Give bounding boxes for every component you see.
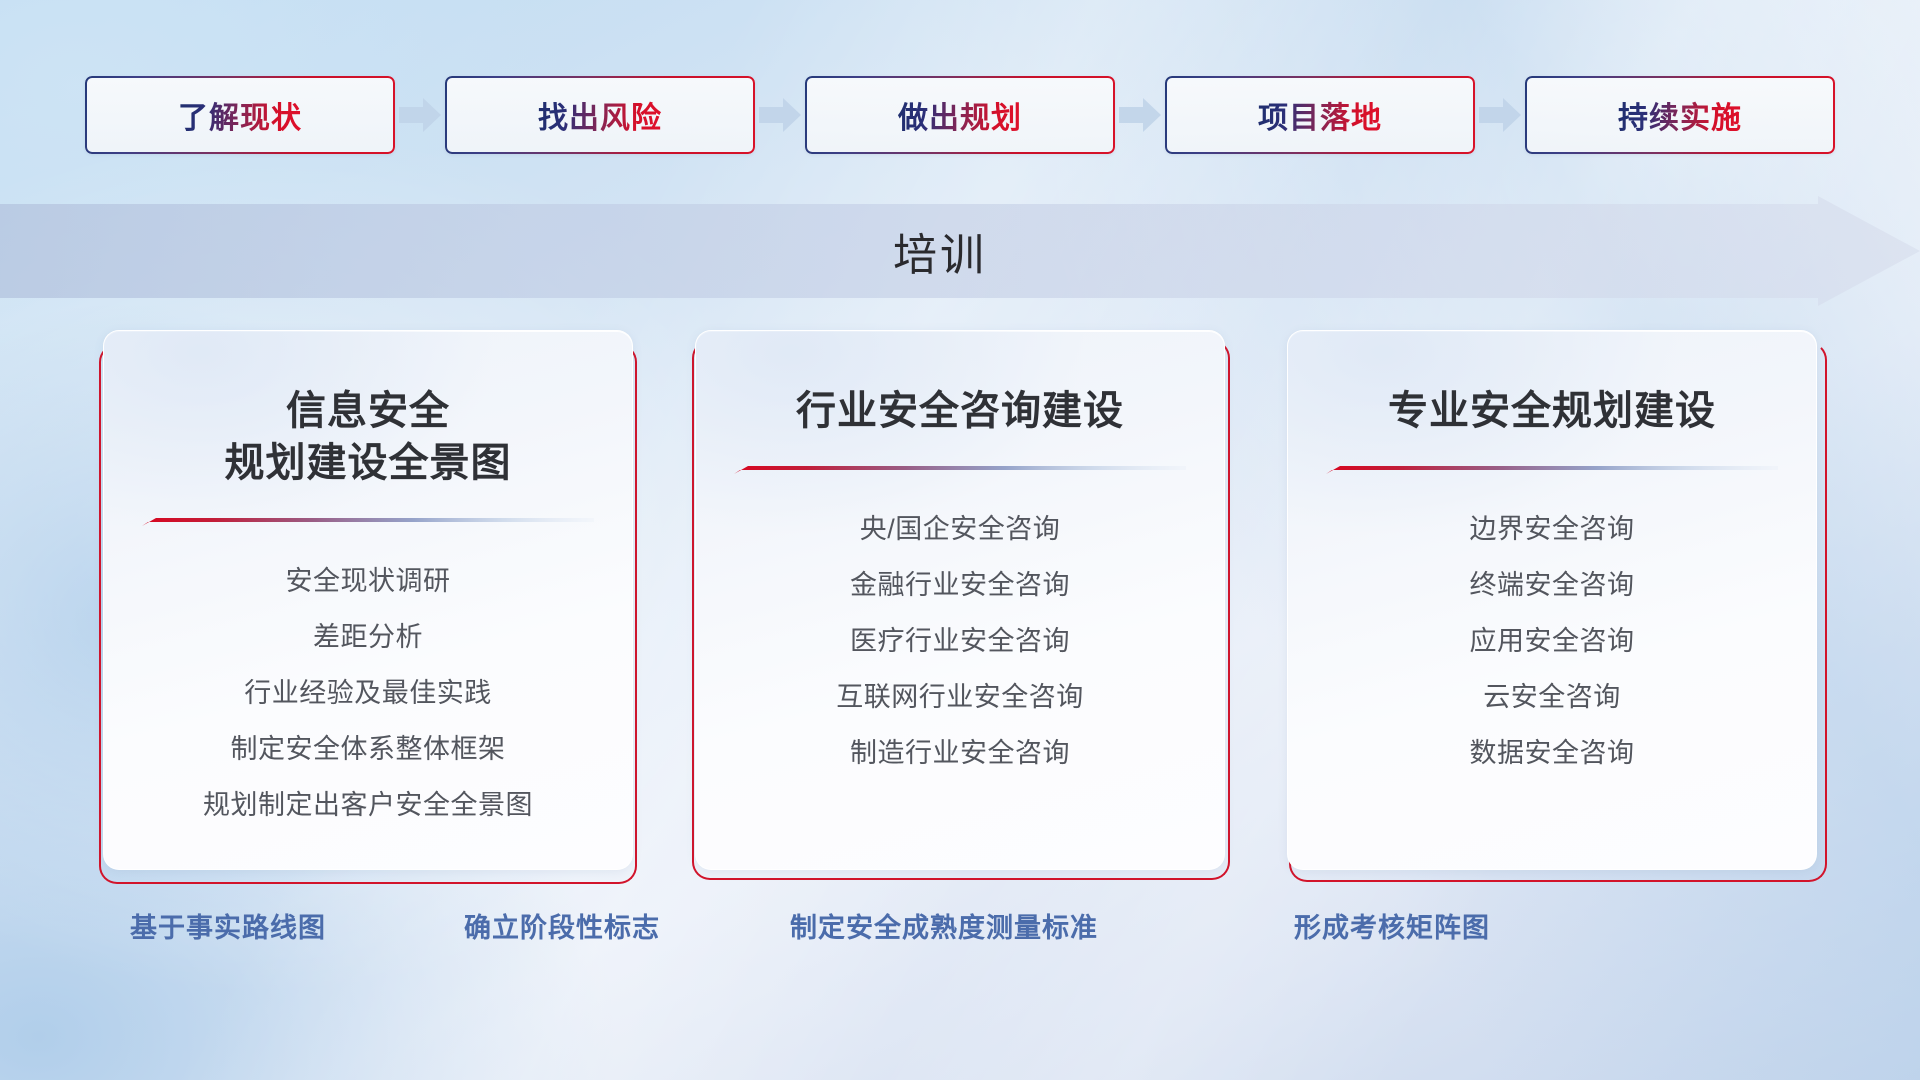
list-item: 制造行业安全咨询 xyxy=(850,731,1070,770)
step-box-4[interactable]: 持续实施 xyxy=(1525,76,1835,154)
card-list: 央/国企安全咨询 金融行业安全咨询 医疗行业安全咨询 互联网行业安全咨询 制造行… xyxy=(722,507,1198,770)
list-item: 安全现状调研 xyxy=(286,559,451,598)
step-label: 项目落地 xyxy=(1258,93,1382,137)
caption-row: 基于事实路线图 确立阶段性标志 制定安全成熟度测量标准 形成考核矩阵图 xyxy=(0,906,1920,962)
caption-1: 确立阶段性标志 xyxy=(464,906,660,945)
card-0[interactable]: 信息安全 规划建设全景图 xyxy=(103,330,633,870)
card-2[interactable]: 专业安全规划建设 xyxy=(1287,330,1817,870)
list-item: 应用安全咨询 xyxy=(1470,619,1635,658)
list-item: 央/国企安全咨询 xyxy=(860,507,1061,546)
card-title: 行业安全咨询建设 xyxy=(796,385,1124,437)
step-box-1[interactable]: 找出风险 xyxy=(445,76,755,154)
list-item: 云安全咨询 xyxy=(1483,675,1621,714)
arrow-right-icon xyxy=(755,92,805,138)
step-label: 做出规划 xyxy=(898,93,1022,137)
card-slot-2: 专业安全规划建设 xyxy=(1287,330,1817,870)
card-divider xyxy=(734,463,1186,477)
caption-2: 制定安全成熟度测量标准 xyxy=(790,906,1098,945)
step-label: 找出风险 xyxy=(538,93,662,137)
list-item: 互联网行业安全咨询 xyxy=(836,675,1084,714)
arrow-right-icon xyxy=(1475,92,1525,138)
card-1[interactable]: 行业安全咨询建设 xyxy=(695,330,1225,870)
step-box-2[interactable]: 做出规划 xyxy=(805,76,1115,154)
arrow-right-icon xyxy=(1115,92,1165,138)
list-item: 终端安全咨询 xyxy=(1470,563,1635,602)
list-item: 制定安全体系整体框架 xyxy=(231,727,506,766)
list-item: 规划制定出客户安全全景图 xyxy=(203,783,533,822)
card-list: 边界安全咨询 终端安全咨询 应用安全咨询 云安全咨询 数据安全咨询 xyxy=(1314,507,1790,770)
step-box-3[interactable]: 项目落地 xyxy=(1165,76,1475,154)
list-item: 行业经验及最佳实践 xyxy=(244,671,492,710)
list-item: 医疗行业安全咨询 xyxy=(850,619,1070,658)
card-divider xyxy=(1326,463,1778,477)
card-slot-0: 信息安全 规划建设全景图 xyxy=(103,330,633,870)
caption-0: 基于事实路线图 xyxy=(130,906,326,945)
card-row: 信息安全 规划建设全景图 xyxy=(0,330,1920,870)
card-divider xyxy=(142,515,594,529)
card-list: 安全现状调研 差距分析 行业经验及最佳实践 制定安全体系整体框架 规划制定出客户… xyxy=(130,559,606,822)
card-slot-1: 行业安全咨询建设 xyxy=(695,330,1225,870)
step-label: 持续实施 xyxy=(1618,93,1742,137)
list-item: 边界安全咨询 xyxy=(1470,507,1635,546)
card-title: 专业安全规划建设 xyxy=(1388,385,1716,437)
step-label: 了解现状 xyxy=(178,93,302,137)
list-item: 数据安全咨询 xyxy=(1470,731,1635,770)
arrow-right-icon xyxy=(395,92,445,138)
card-title: 信息安全 规划建设全景图 xyxy=(225,385,512,489)
step-box-0[interactable]: 了解现状 xyxy=(85,76,395,154)
list-item: 金融行业安全咨询 xyxy=(850,563,1070,602)
list-item: 差距分析 xyxy=(313,615,423,654)
training-band-label: 培训 xyxy=(0,196,1880,306)
process-step-row: 了解现状 找出风险 做出规划 项目落地 持续实施 xyxy=(0,76,1920,154)
caption-3: 形成考核矩阵图 xyxy=(1294,906,1490,945)
